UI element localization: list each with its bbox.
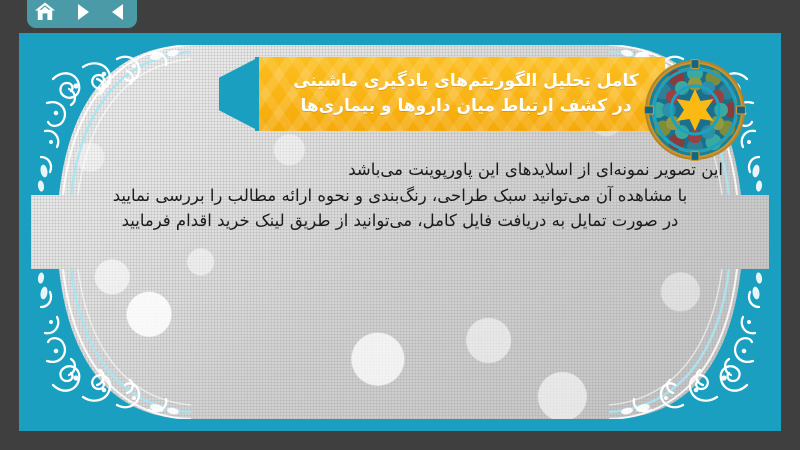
body-line-1: این تصویر نمونه‌ای از اسلایدهای این پاور… — [61, 157, 739, 183]
prev-slide-button[interactable] — [106, 0, 132, 24]
persian-corner-flourish-icon — [609, 269, 769, 419]
banner-tail-chevron — [219, 57, 259, 131]
slide-stage: این تصویر نمونه‌ای از اسلایدهای این پاور… — [19, 33, 781, 431]
persian-corner-flourish-icon — [31, 269, 191, 419]
slide-title-banner: کامل تحلیل الگوریتم‌های یادگیری ماشینی د… — [259, 57, 665, 131]
title-line-2: در کشف ارتباط میان داروها و بیماری‌ها — [300, 94, 631, 119]
home-button[interactable] — [32, 0, 58, 24]
slide-canvas: این تصویر نمونه‌ای از اسلایدهای این پاور… — [31, 45, 769, 419]
persian-medallion-icon — [644, 59, 746, 161]
body-line-3: در صورت تمایل به دریافت فایل کامل، می‌تو… — [61, 208, 739, 234]
title-line-1: کامل تحلیل الگوریتم‌های یادگیری ماشینی — [293, 69, 638, 94]
slide-viewer: این تصویر نمونه‌ای از اسلایدهای این پاور… — [0, 0, 800, 450]
slide-body-text: این تصویر نمونه‌ای از اسلایدهای این پاور… — [61, 157, 739, 234]
triangle-right-icon — [72, 2, 92, 22]
body-line-2: با مشاهده آن می‌توانید سبک طراحی، رنگ‌بن… — [61, 183, 739, 209]
home-icon — [34, 1, 56, 23]
next-slide-button[interactable] — [69, 0, 95, 24]
nav-toolbar — [27, 0, 137, 28]
triangle-left-icon — [109, 2, 129, 22]
